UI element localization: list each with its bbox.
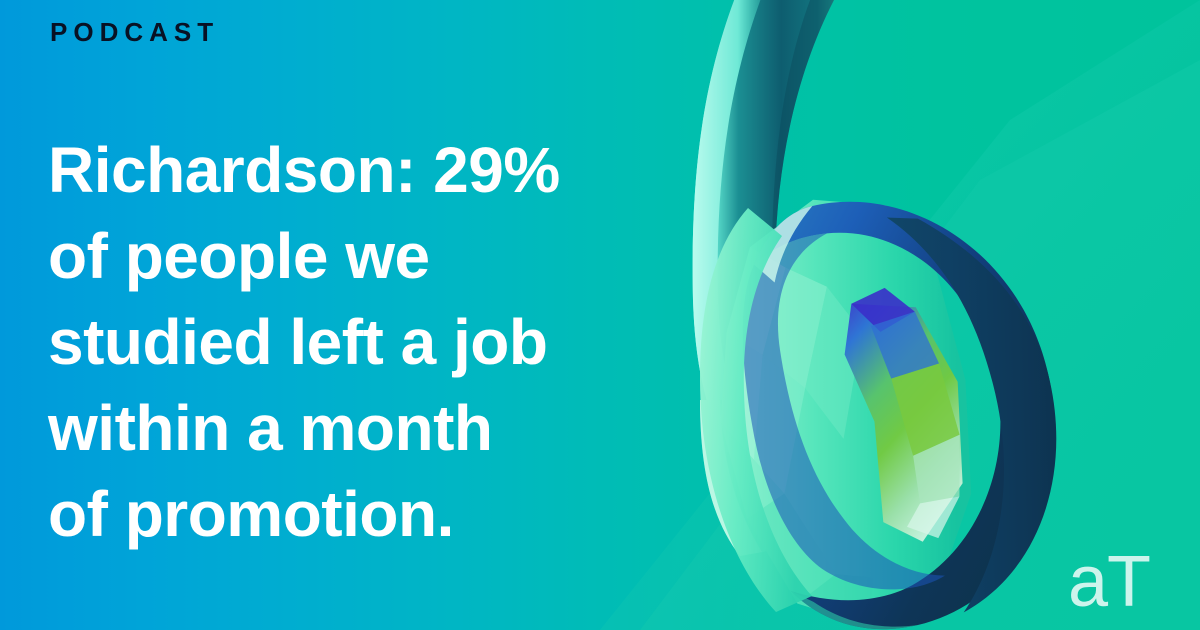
- headline-line-5: of promotion.: [48, 471, 708, 557]
- headline: Richardson: 29% of people we studied lef…: [48, 127, 708, 557]
- headline-line-1: Richardson: 29%: [48, 127, 708, 213]
- headline-line-2: of people we: [48, 213, 708, 299]
- headline-line-3: studied left a job: [48, 299, 708, 385]
- headline-line-4: within a month: [48, 385, 708, 471]
- eyebrow-label-podcast: PODCAST: [50, 19, 219, 45]
- podcast-promo-card: PODCAST Richardson: 29% of people we stu…: [0, 0, 1200, 630]
- brand-logo-at[interactable]: aT: [1068, 546, 1150, 618]
